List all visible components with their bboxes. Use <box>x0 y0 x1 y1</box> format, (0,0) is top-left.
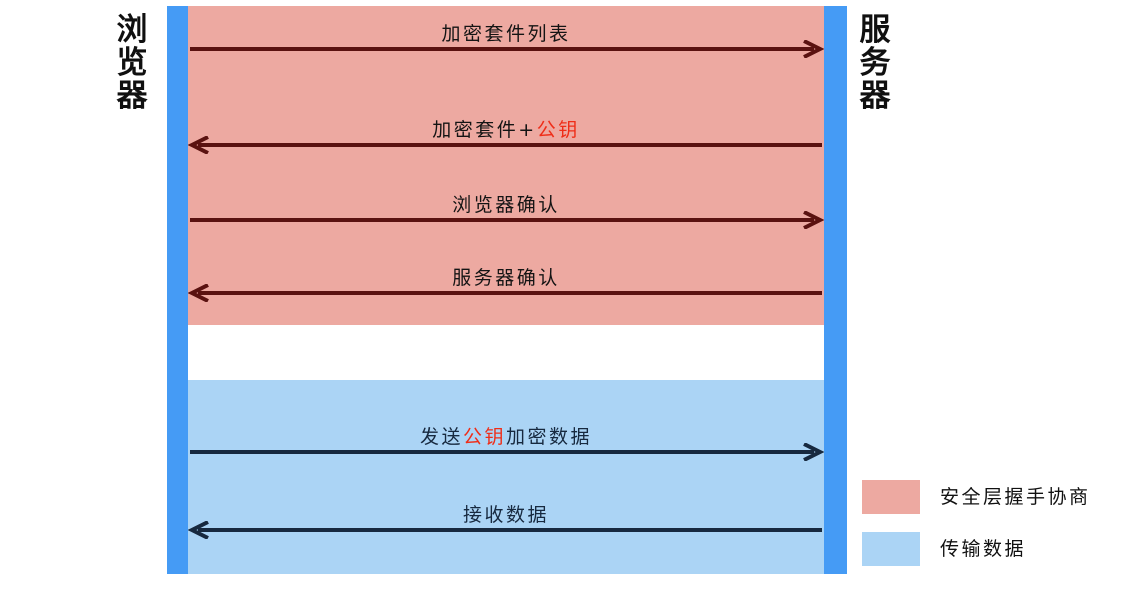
lifeline-server <box>824 6 847 574</box>
message-cipher-suite-plus-public-key: 加密套件+公钥 <box>188 110 824 154</box>
arrow-right-icon <box>188 40 824 58</box>
arrow-left-icon <box>188 136 824 154</box>
actor-label-server-char-1: 服 <box>855 14 895 47</box>
arrow-right-icon <box>188 443 824 461</box>
actor-label-browser-char-1: 浏 <box>112 14 152 47</box>
arrow-left-icon <box>188 284 824 302</box>
diagram-canvas: 浏 览 器 服 务 器 加密套件列表 加密套件+公钥 浏览器确认 <box>0 0 1142 592</box>
arrow-right-icon <box>188 211 824 229</box>
actor-label-server-char-3: 器 <box>855 80 895 113</box>
message-receive-data: 接收数据 <box>188 495 824 539</box>
actor-label-server: 服 务 器 <box>855 14 895 113</box>
lifeline-browser <box>167 6 188 574</box>
arrow-left-icon <box>188 521 824 539</box>
message-cipher-suite-list: 加密套件列表 <box>188 14 824 58</box>
phase-band-transfer <box>188 380 825 574</box>
actor-label-browser-char-3: 器 <box>112 80 152 113</box>
message-server-confirm: 服务器确认 <box>188 258 824 302</box>
actor-label-server-char-2: 务 <box>855 47 895 80</box>
actor-label-browser-char-2: 览 <box>112 47 152 80</box>
message-send-encrypted-data: 发送公钥加密数据 <box>188 417 824 461</box>
legend-label-handshake: 安全层握手协商 <box>940 482 1091 509</box>
legend-swatch-transfer <box>862 532 920 566</box>
actor-label-browser: 浏 览 器 <box>112 14 152 113</box>
message-browser-confirm: 浏览器确认 <box>188 185 824 229</box>
legend-swatch-handshake <box>862 480 920 514</box>
legend-label-transfer: 传输数据 <box>940 534 1026 561</box>
